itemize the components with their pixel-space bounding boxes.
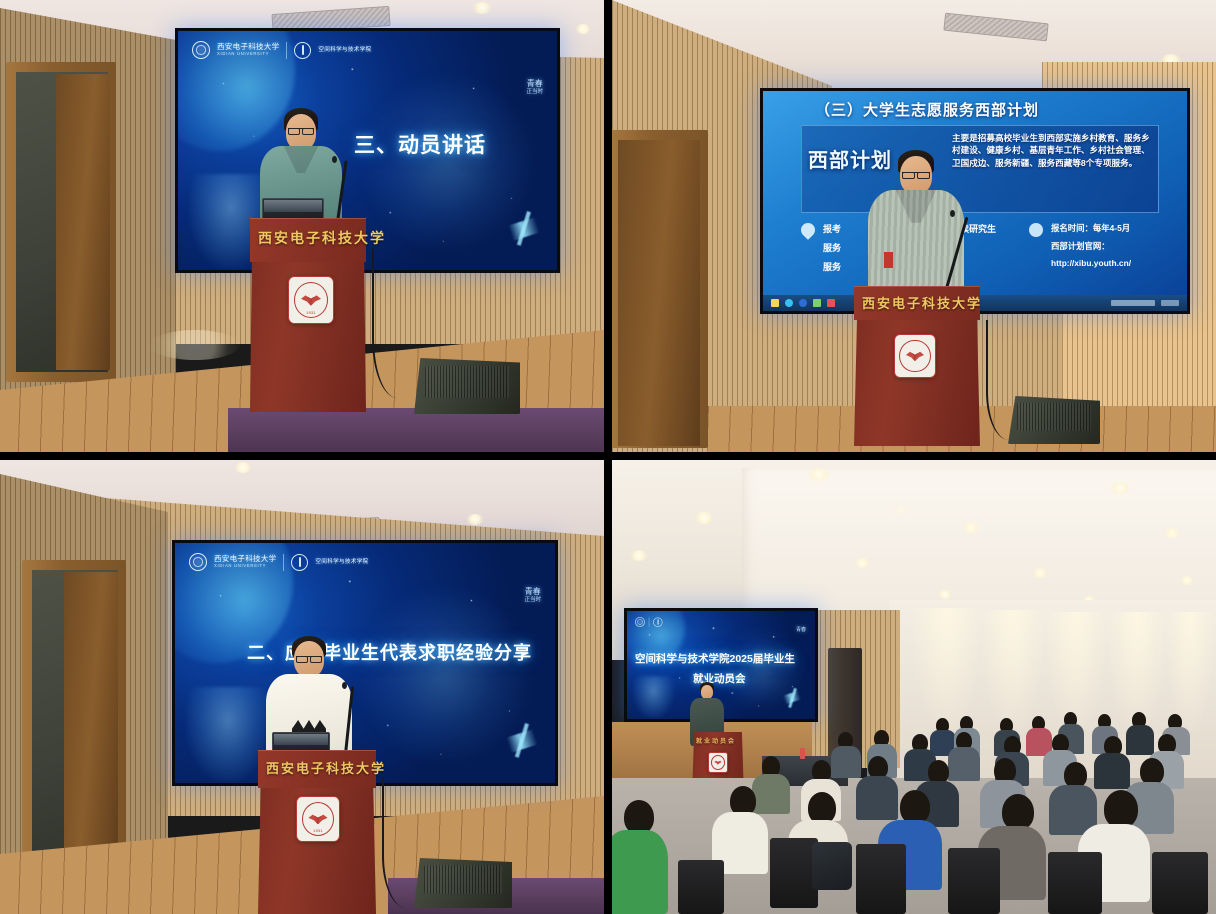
crest-inner-ring: 1931 xyxy=(302,802,335,836)
podium-crest: 1931 xyxy=(288,276,334,324)
downlight xyxy=(808,468,830,481)
slide-corner-watermark: 青春 xyxy=(796,627,806,633)
podium-university-text: 西安电子科技大学 xyxy=(258,228,386,248)
chat-icon[interactable] xyxy=(785,299,793,307)
laptop xyxy=(272,732,330,752)
location-pin-icon xyxy=(798,220,818,240)
school-logo-icon xyxy=(291,554,308,571)
corner-watermark-sub: 正当时 xyxy=(526,89,543,96)
clock xyxy=(1161,300,1179,306)
university-seal-icon xyxy=(192,41,210,59)
crest-bird-icon xyxy=(906,351,924,361)
crest-inner-ring xyxy=(711,755,725,770)
chair xyxy=(1048,852,1102,914)
chair xyxy=(1152,852,1208,914)
corner-watermark-sub: 正当时 xyxy=(524,597,541,604)
crest-bird-icon xyxy=(308,814,327,825)
slide-body-text: 主要是招募高校毕业生到西部实施乡村教育、服务乡村建设、健康乡村、基层青年工作、乡… xyxy=(952,132,1152,169)
crest-bird-icon xyxy=(301,294,321,306)
info-right-time: 报名时间：每年4-5月 xyxy=(1051,222,1130,234)
microphone-head xyxy=(950,210,955,217)
backpack xyxy=(812,842,852,890)
university-name-en: XIDIAN UNIVERSITY xyxy=(214,564,276,569)
university-name-cn: 西安电子科技大学 xyxy=(217,42,279,51)
slide-logo-row: 西安电子科技大学 XIDIAN UNIVERSITY 空间科学与技术学院 xyxy=(192,41,371,59)
downlight xyxy=(472,2,492,14)
laptop xyxy=(262,198,324,220)
crest-year: 1931 xyxy=(295,310,327,315)
laptop-screen xyxy=(274,734,328,745)
cable xyxy=(382,778,422,908)
astronaut-graphic xyxy=(633,676,674,719)
university-seal-icon xyxy=(189,553,207,571)
microphone-head xyxy=(342,682,347,689)
downlight xyxy=(1110,482,1130,494)
door-panel xyxy=(618,140,700,446)
downlight xyxy=(466,514,484,525)
crest-bird-icon xyxy=(714,760,721,764)
crest-year: 1931 xyxy=(303,828,334,833)
slide-logo-row xyxy=(635,617,663,627)
smoke-detector xyxy=(894,506,908,515)
speaker-glasses xyxy=(902,172,930,173)
browser-icon[interactable] xyxy=(799,299,807,307)
foreground-table xyxy=(228,408,604,452)
photo-panel-bottom-left[interactable]: 西安电子科技大学 XIDIAN UNIVERSITY 空间科学与技术学院 青春 … xyxy=(0,460,604,914)
speaker-collar xyxy=(284,146,318,173)
photo-panel-bottom-right[interactable]: 青春 空间科学与技术学院2025届毕业生 就业动员会 就业动员会 xyxy=(612,460,1216,914)
microphone-head xyxy=(332,156,337,163)
downlight xyxy=(630,550,648,561)
crest-inner-ring: 1931 xyxy=(294,282,328,318)
corner-watermark-main: 青春 xyxy=(796,627,806,633)
downlight xyxy=(234,462,252,473)
downlight xyxy=(962,522,980,533)
floor-light-reflection xyxy=(150,330,240,360)
podium-university-text: 西安电子科技大学 xyxy=(862,293,982,312)
university-logo-text: 西安电子科技大学 XIDIAN UNIVERSITY xyxy=(214,555,276,568)
school-name-cn: 空间科学与技术学院 xyxy=(315,559,368,565)
corner-watermark-main: 青春 xyxy=(524,587,541,597)
downlight xyxy=(1032,568,1048,578)
folder-icon[interactable] xyxy=(813,299,821,307)
slide-title-line1: 空间科学与技术学院2025届毕业生 xyxy=(635,651,795,666)
crest-inner-ring xyxy=(899,340,930,373)
speaker-collar xyxy=(896,190,936,223)
info-right-url: http://xibu.youth.cn/ xyxy=(1051,258,1131,268)
door-panel xyxy=(64,572,118,870)
podium-university-text: 西安电子科技大学 xyxy=(266,758,386,777)
chair xyxy=(856,844,906,914)
downlight xyxy=(694,512,714,524)
podium-crest: 1931 xyxy=(296,796,340,842)
info-left-2: 服务 xyxy=(823,241,841,254)
corner-watermark-main: 青春 xyxy=(526,79,543,89)
downlight xyxy=(1180,576,1194,585)
stage-monitor-speaker xyxy=(414,858,512,908)
chair xyxy=(948,848,1000,914)
logo-divider xyxy=(286,42,287,59)
start-icon[interactable] xyxy=(771,299,779,307)
university-name-cn: 西安电子科技大学 xyxy=(214,554,276,563)
slide-logo-row: 西安电子科技大学 XIDIAN UNIVERSITY 空间科学与技术学院 xyxy=(189,553,368,571)
nebula-graphic xyxy=(360,74,534,251)
school-name-cn: 空间科学与技术学院 xyxy=(318,47,371,53)
university-logo-text: 西安电子科技大学 XIDIAN UNIVERSITY xyxy=(217,43,279,56)
photo-panel-top-left[interactable]: 西安电子科技大学 XIDIAN UNIVERSITY 空间科学与技术学院 青春 … xyxy=(0,0,604,452)
downlight xyxy=(575,24,591,34)
downlight xyxy=(938,590,952,599)
photo-panel-top-right[interactable]: （三）大学生志愿服务西部计划 西部计划 主要是招募高校毕业生到西部实施乡村教育、… xyxy=(612,0,1216,452)
speaker-glasses xyxy=(296,656,322,657)
downlight xyxy=(854,558,870,568)
podium-crest xyxy=(894,334,936,378)
speaker-glasses xyxy=(288,128,314,129)
tray-icons[interactable] xyxy=(1111,300,1155,306)
downlight xyxy=(1164,528,1180,538)
school-logo-icon xyxy=(294,42,311,59)
logo-divider xyxy=(283,554,284,571)
university-name-en: XIDIAN UNIVERSITY xyxy=(217,52,279,57)
name-badge xyxy=(884,252,893,268)
app-icon[interactable] xyxy=(827,299,835,307)
school-logo-icon xyxy=(653,617,662,626)
info-left-1: 报考 xyxy=(823,222,841,235)
chair xyxy=(770,838,818,908)
info-left-3: 服务 xyxy=(823,260,841,273)
podium-university-text: 就业动员会 xyxy=(696,736,736,745)
laptop-screen xyxy=(264,200,322,212)
info-right-site-label: 西部计划官网： xyxy=(1051,240,1110,252)
slide-corner-watermark: 青春 正当时 xyxy=(524,587,541,603)
stage-monitor-speaker xyxy=(1008,396,1100,444)
slide-title: 三、动员讲话 xyxy=(354,129,486,159)
cable xyxy=(372,248,414,398)
stage-monitor-speaker xyxy=(414,358,520,414)
podium-crest xyxy=(708,752,728,773)
water-bottle xyxy=(800,748,805,759)
chair xyxy=(678,860,724,914)
university-seal-icon xyxy=(635,617,645,627)
slide-corner-watermark: 青春 正当时 xyxy=(526,79,543,95)
speaker-head xyxy=(701,685,713,699)
slide-title: （三）大学生志愿服务西部计划 xyxy=(815,99,1039,120)
photo-collage: 西安电子科技大学 XIDIAN UNIVERSITY 空间科学与技术学院 青春 … xyxy=(0,0,1216,914)
logo-divider xyxy=(649,617,650,626)
pencil-icon xyxy=(1029,223,1043,237)
door-panel xyxy=(56,74,110,370)
